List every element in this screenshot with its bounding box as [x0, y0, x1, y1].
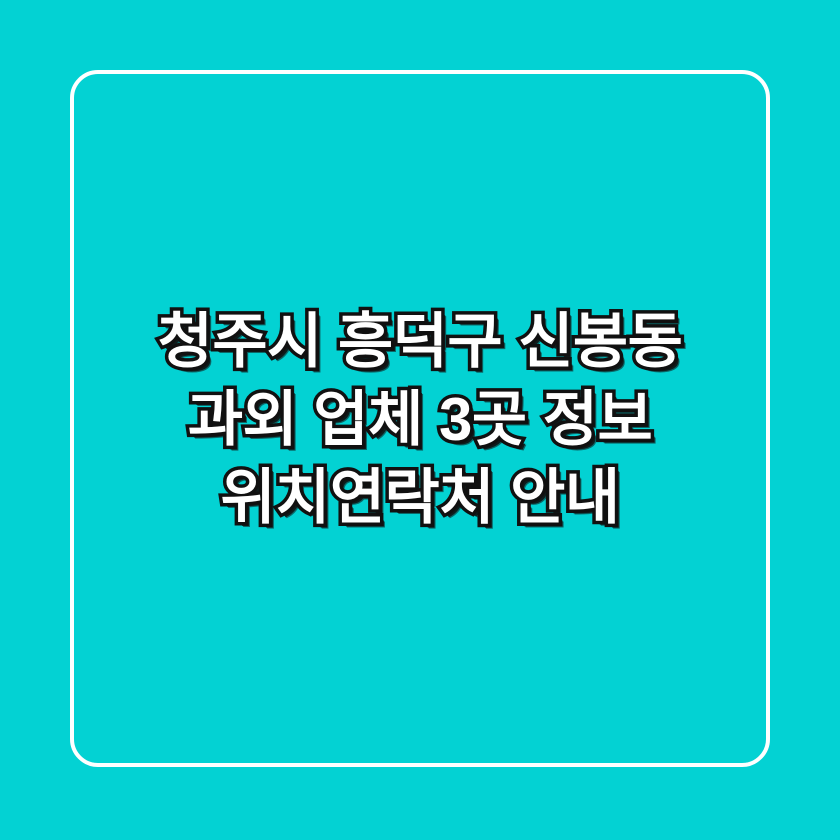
- poster-canvas: 청주시 흥덕구 신봉동 과외 업체 3곳 정보 위치연락처 안내: [0, 0, 840, 840]
- headline-line-1: 청주시 흥덕구 신봉동: [0, 303, 840, 381]
- headline-line-3: 위치연락처 안내: [0, 459, 840, 537]
- headline-block: 청주시 흥덕구 신봉동 과외 업체 3곳 정보 위치연락처 안내: [0, 0, 840, 840]
- headline-line-2: 과외 업체 3곳 정보: [0, 381, 840, 459]
